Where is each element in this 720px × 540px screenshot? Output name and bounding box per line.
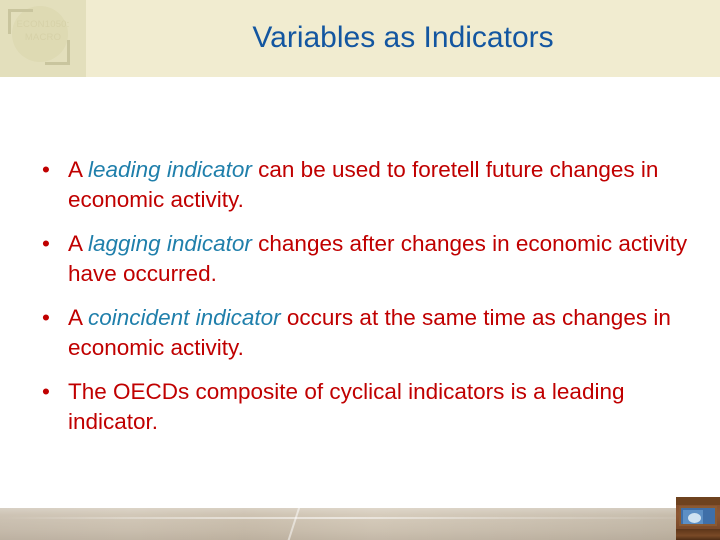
text-run: A xyxy=(68,157,88,182)
photo-frame xyxy=(679,506,717,526)
list-item-text: A lagging indicator changes after change… xyxy=(68,231,687,286)
footer-photo-band xyxy=(0,508,720,540)
photo-screen xyxy=(683,510,703,524)
list-item: •A coincident indicator occurs at the sa… xyxy=(38,303,698,363)
slide: ECON1050: MACRO Variables as Indicators … xyxy=(0,0,720,540)
footer-seam-diagonal xyxy=(286,508,302,540)
emphasis-term: coincident indicator xyxy=(88,305,281,330)
list-item-text: The OECDs composite of cyclical indicato… xyxy=(68,379,624,434)
framed-picture-photo xyxy=(676,497,720,540)
list-item-text: A coincident indicator occurs at the sam… xyxy=(68,305,671,360)
text-run: The OECDs composite of cyclical indicato… xyxy=(68,379,624,434)
logo-line-2: MACRO xyxy=(0,31,86,44)
list-item: •The OECDs composite of cyclical indicat… xyxy=(38,377,698,437)
footer-seam-highlight xyxy=(0,517,720,519)
text-run: A xyxy=(68,231,88,256)
logo-line-1: ECON1050: xyxy=(0,18,86,31)
list-item: •A lagging indicator changes after chang… xyxy=(38,229,698,289)
photo-shelf-top xyxy=(676,497,720,505)
photo-oval-highlight xyxy=(688,513,701,523)
text-run: A xyxy=(68,305,88,330)
photo-shelf-bottom xyxy=(676,529,720,540)
emphasis-term: lagging indicator xyxy=(88,231,252,256)
page-title: Variables as Indicators xyxy=(86,19,720,57)
bullet-list: •A leading indicator can be used to fore… xyxy=(38,155,698,437)
bullet-point-icon: • xyxy=(42,229,50,259)
header-band: ECON1050: MACRO Variables as Indicators xyxy=(0,0,720,77)
bullet-point-icon: • xyxy=(42,155,50,185)
emphasis-term: leading indicator xyxy=(88,157,252,182)
logo-text: ECON1050: MACRO xyxy=(0,18,86,44)
bullet-point-icon: • xyxy=(42,377,50,407)
course-logo: ECON1050: MACRO xyxy=(0,0,86,77)
slide-body: •A leading indicator can be used to fore… xyxy=(0,77,720,508)
list-item: •A leading indicator can be used to fore… xyxy=(38,155,698,215)
bullet-point-icon: • xyxy=(42,303,50,333)
list-item-text: A leading indicator can be used to foret… xyxy=(68,157,658,212)
